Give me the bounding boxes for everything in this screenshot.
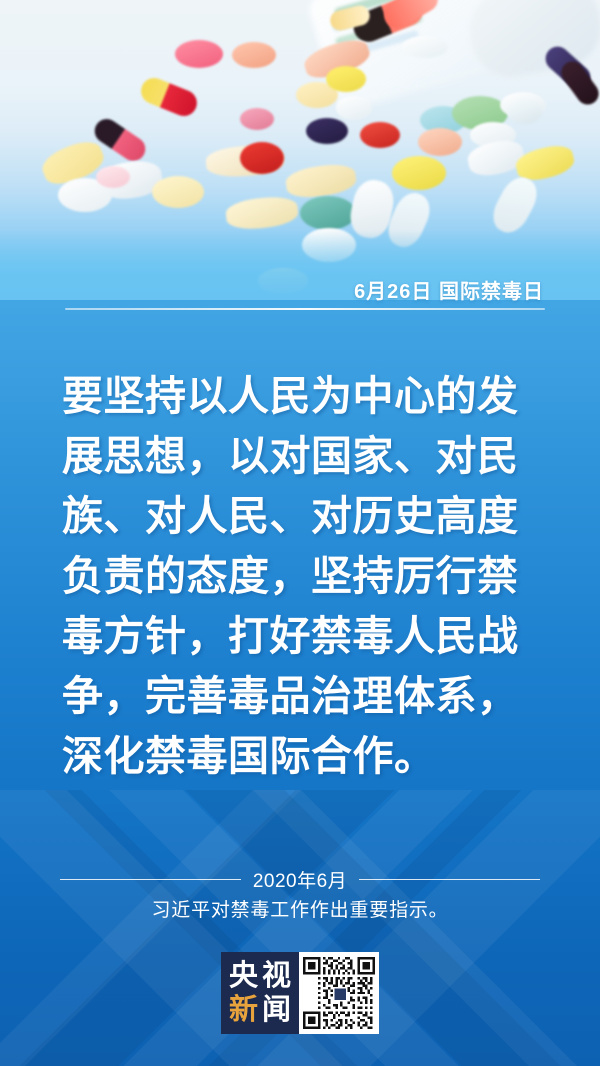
pill-tablet — [284, 161, 357, 200]
pill-tablet — [306, 118, 348, 144]
pill-tablet — [232, 42, 276, 68]
rule-left — [60, 879, 241, 880]
pill-capsule — [137, 74, 201, 120]
qr-code[interactable] — [299, 952, 379, 1034]
quote-block: 要坚持以人民为中心的发 展思想，以对国家、对民 族、对人民、对历史高度 负责的态… — [0, 366, 600, 786]
logo-char-4: 闻 — [260, 993, 293, 1027]
header-divider — [65, 308, 545, 310]
pill-tablet — [418, 128, 462, 156]
pill-tablet — [346, 176, 397, 241]
cctv-news-logo: 央 视 新 闻 — [221, 952, 299, 1034]
source-date: 2020年6月 — [253, 866, 347, 893]
pill-tablet — [392, 156, 446, 190]
logo-char-2: 视 — [260, 959, 293, 993]
quote-line: 要坚持以人民为中心的发 — [62, 366, 538, 426]
pill-tablet — [175, 40, 223, 68]
pill-tablet — [240, 142, 284, 174]
quote-line: 族、对人民、对历史高度 — [62, 486, 538, 546]
source-caption: 习近平对禁毒工作作出重要指示。 — [0, 895, 600, 922]
pill-tablet — [240, 108, 274, 130]
date-label: 6月26日 国际禁毒日 — [354, 275, 544, 304]
quote-line: 展思想，以对国家、对民 — [62, 426, 538, 486]
rule-right — [359, 879, 540, 880]
pill-tablet — [360, 122, 400, 148]
pill-tablet — [402, 36, 448, 58]
pill-capsule — [557, 57, 600, 109]
pill-tablet — [302, 228, 356, 262]
pill-tablet — [336, 96, 372, 120]
source-date-row: 2020年6月 — [0, 866, 600, 893]
qr-code-icon — [303, 956, 375, 1030]
pill-tablet — [508, 100, 542, 124]
quote-line: 争，完善毒品治理体系， — [62, 666, 538, 726]
quote-line: 毒方针，打好禁毒人民战 — [62, 606, 538, 666]
logo-char-1: 央 — [227, 959, 260, 993]
pill-tablet — [152, 176, 204, 208]
quote-line: 深化禁毒国际合作。 — [62, 726, 538, 786]
pill-tablet — [486, 171, 543, 238]
date-row: 6月26日 国际禁毒日 — [0, 272, 600, 306]
logo-char-3: 新 — [227, 993, 260, 1027]
brand-block: 央 视 新 闻 — [0, 952, 600, 1034]
pill-tablet — [225, 194, 300, 231]
pill-tablet — [96, 166, 130, 188]
poster-root: 6月26日 国际禁毒日 要坚持以人民为中心的发 展思想，以对国家、对民 族、对人… — [0, 0, 600, 1066]
pill-tablet — [326, 66, 366, 92]
quote-line: 负责的态度，坚持厉行禁 — [62, 546, 538, 606]
pill-tablet — [300, 196, 356, 230]
pills-photo — [0, 0, 600, 300]
